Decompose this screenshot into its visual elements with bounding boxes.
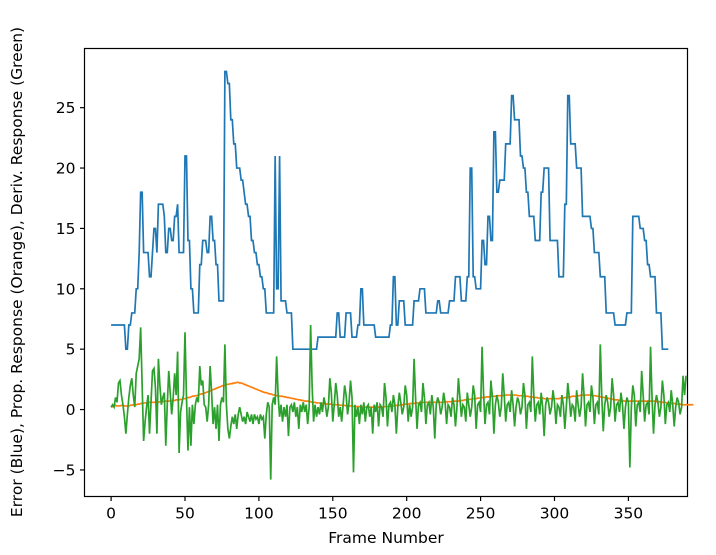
matplotlib-figure: 050100150200250300350 −50510152025 Frame…: [0, 0, 716, 555]
x-tick-label: 250: [466, 505, 496, 523]
chart-canvas: 050100150200250300350 −50510152025 Frame…: [0, 0, 716, 555]
y-tick-label: 15: [56, 220, 76, 238]
x-tick-label: 150: [318, 505, 348, 523]
x-tick-label: 200: [392, 505, 422, 523]
x-tick-label: 350: [614, 505, 644, 523]
y-axis-label: Error (Blue), Prop. Response (Orange), D…: [8, 27, 26, 517]
figure-background: [0, 0, 716, 555]
y-tick-label: 5: [66, 341, 76, 359]
y-tick-label: 10: [56, 280, 76, 298]
x-tick-label: 100: [244, 505, 274, 523]
x-tick-label: 50: [175, 505, 195, 523]
y-tick-label: 0: [66, 401, 76, 419]
y-tick-label: −5: [53, 461, 76, 479]
x-tick-label: 300: [540, 505, 570, 523]
y-tick-label: 20: [56, 160, 76, 178]
x-tick-label: 0: [106, 505, 116, 523]
y-tick-label: 25: [56, 99, 76, 117]
x-axis-label: Frame Number: [328, 529, 444, 547]
